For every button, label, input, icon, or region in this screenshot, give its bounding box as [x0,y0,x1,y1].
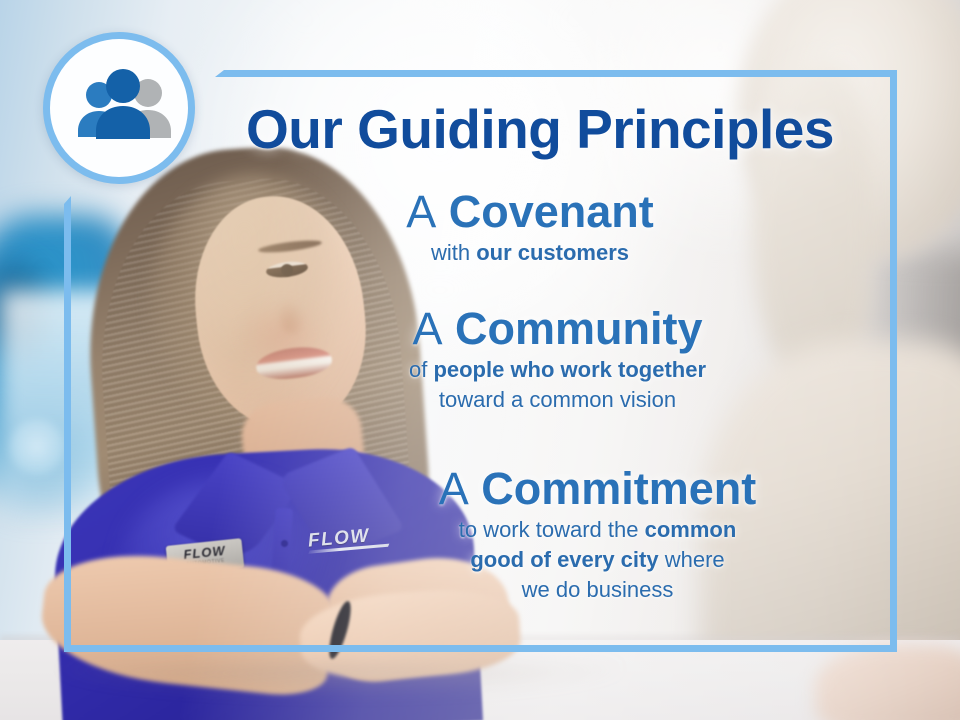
principle-covenant-subtext: with our customers [100,238,960,268]
page-title: Our Guiding Principles [0,97,960,161]
principle-commitment-article: A [439,463,469,514]
principle-covenant-heading: A Covenant [100,186,960,238]
principle-community: A Community of people who work togethert… [0,303,960,415]
subtext-emphasis: common [645,517,737,542]
principle-covenant: A Covenant with our customers [0,186,960,268]
subtext-run: we do business [522,577,674,602]
principle-community-article: A [412,303,442,354]
frame-top-line [215,70,897,77]
principle-commitment-subtext: to work toward the commongood of every c… [235,515,960,605]
principle-commitment-word: Commitment [481,463,756,514]
principle-covenant-word: Covenant [449,186,654,237]
principle-community-word: Community [455,303,703,354]
subtext-line: we do business [235,575,960,605]
guiding-principles-graphic: FLOW FLOW AUTOMOTIVE [0,0,960,720]
subtext-run: with [431,240,476,265]
subtext-run: where [659,547,725,572]
principle-commitment: A Commitment to work toward the commongo… [0,463,960,605]
subtext-emphasis: our customers [476,240,629,265]
subtext-line: toward a common vision [155,385,960,415]
subtext-run: of [409,357,433,382]
principle-covenant-article: A [406,186,436,237]
arm-table-shadow [60,664,620,694]
subtext-line: of people who work together [155,355,960,385]
subtext-run: to work toward the [459,517,645,542]
principle-community-subtext: of people who work togethertoward a comm… [155,355,960,415]
subtext-line: with our customers [100,238,960,268]
principle-commitment-heading: A Commitment [235,463,960,515]
frame-bottom-line [64,645,897,652]
customer-hand [815,645,960,720]
subtext-line: to work toward the common [235,515,960,545]
principle-community-heading: A Community [155,303,960,355]
subtext-emphasis: people who work together [433,357,706,382]
subtext-line: good of every city where [235,545,960,575]
subtext-run: toward a common vision [439,387,676,412]
subtext-emphasis: good of every city [470,547,658,572]
